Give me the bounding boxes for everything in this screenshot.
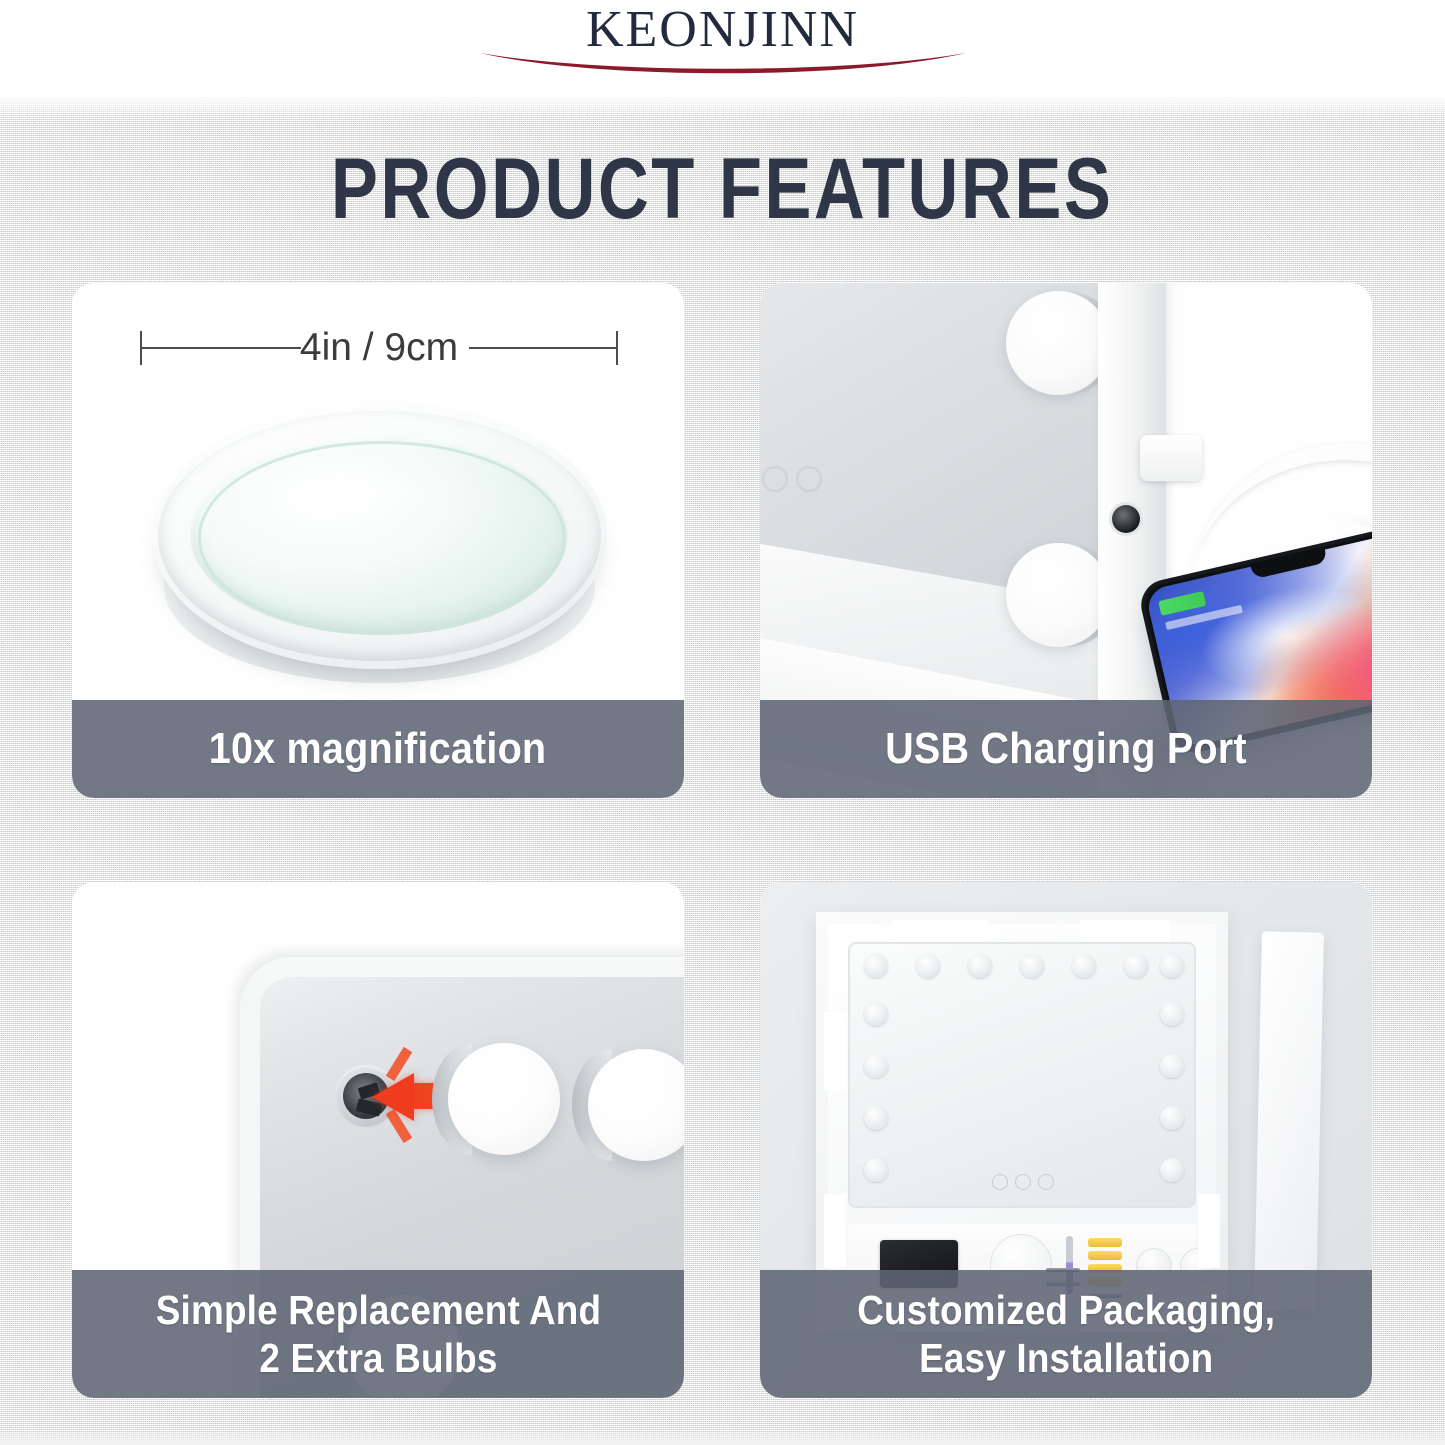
bulb: [1160, 1054, 1184, 1078]
feature-caption-magnification: 10x magnification: [72, 700, 684, 798]
bulb: [864, 1054, 888, 1078]
bulb: [864, 1158, 888, 1182]
bulb: [1020, 954, 1044, 978]
packing-tape: [824, 1194, 846, 1268]
dimension-label: 4in / 9cm: [140, 325, 618, 371]
brand-header: KEONJINN: [0, 0, 1445, 95]
caption-line: 10x magnification: [209, 725, 547, 773]
bulb: [1072, 954, 1096, 978]
bulb: [1160, 1158, 1184, 1182]
foam-insert: [828, 924, 1216, 1320]
bulb: [864, 1002, 888, 1026]
background-top-fade: [0, 95, 1445, 121]
brand-swoosh-icon: [478, 50, 968, 84]
feature-card-magnification[interactable]: 4in / 9cm 10x magnification: [72, 283, 684, 798]
feature-caption-bulb-replacement: Simple Replacement And 2 Extra Bulbs: [72, 1270, 684, 1398]
feature-card-bulb-replacement[interactable]: Simple Replacement And 2 Extra Bulbs: [72, 882, 684, 1398]
bulb: [1160, 1106, 1184, 1130]
packing-tape: [1198, 1194, 1220, 1268]
packed-mirror: [848, 942, 1196, 1208]
packing-tape: [1080, 920, 1170, 942]
dimension-line-icon: 4in / 9cm: [140, 325, 618, 371]
bulb: [1160, 954, 1184, 978]
bulb: [864, 954, 888, 978]
feature-card-packaging[interactable]: Customized Packaging, Easy Installation: [760, 882, 1372, 1398]
bulb-top: [1006, 291, 1110, 395]
touch-control-icon: [762, 466, 846, 492]
page-title: PRODUCT FEATURES: [0, 140, 1445, 239]
caption-line-2: Easy Installation: [857, 1334, 1275, 1382]
packing-tape: [824, 1012, 846, 1090]
caption-line-2: 2 Extra Bulbs: [155, 1334, 601, 1382]
wall-anchor: [1088, 1251, 1122, 1260]
bulb: [864, 1106, 888, 1130]
bulb: [1124, 954, 1148, 978]
caption-line-1: Simple Replacement And: [155, 1286, 601, 1334]
mirror-stand-part: [1254, 931, 1324, 1310]
feature-caption-usb-charging: USB Charging Port: [760, 700, 1372, 798]
bulb: [968, 954, 992, 978]
caption-line-1: Customized Packaging,: [857, 1286, 1275, 1334]
bulb: [1160, 1002, 1184, 1026]
feature-card-usb-charging[interactable]: USB Charging Port: [760, 283, 1372, 798]
bulb: [916, 954, 940, 978]
usb-plug-icon: [1140, 435, 1202, 481]
bulb-bottom: [1006, 543, 1110, 647]
caption-line: USB Charging Port: [885, 725, 1247, 773]
packing-tape: [892, 920, 988, 942]
packaging-box: [816, 912, 1228, 1332]
page-title-text: PRODUCT FEATURES: [331, 140, 1113, 239]
features-grid: 4in / 9cm 10x magnification: [72, 283, 1385, 1398]
brand-logo: KEONJINN: [513, 0, 933, 95]
brand-name: KEONJINN: [513, 3, 933, 57]
infographic-page: KEONJINN PRODUCT FEATURES 4in / 9cm: [0, 0, 1445, 1445]
power-jack-icon: [1112, 505, 1140, 533]
magnifier-lens-illustration: [152, 401, 607, 701]
touch-controls-icon: [992, 1174, 1052, 1188]
wall-anchor: [1088, 1238, 1122, 1247]
background-bottom-fade: [0, 1427, 1445, 1445]
feature-caption-packaging: Customized Packaging, Easy Installation: [760, 1270, 1372, 1398]
